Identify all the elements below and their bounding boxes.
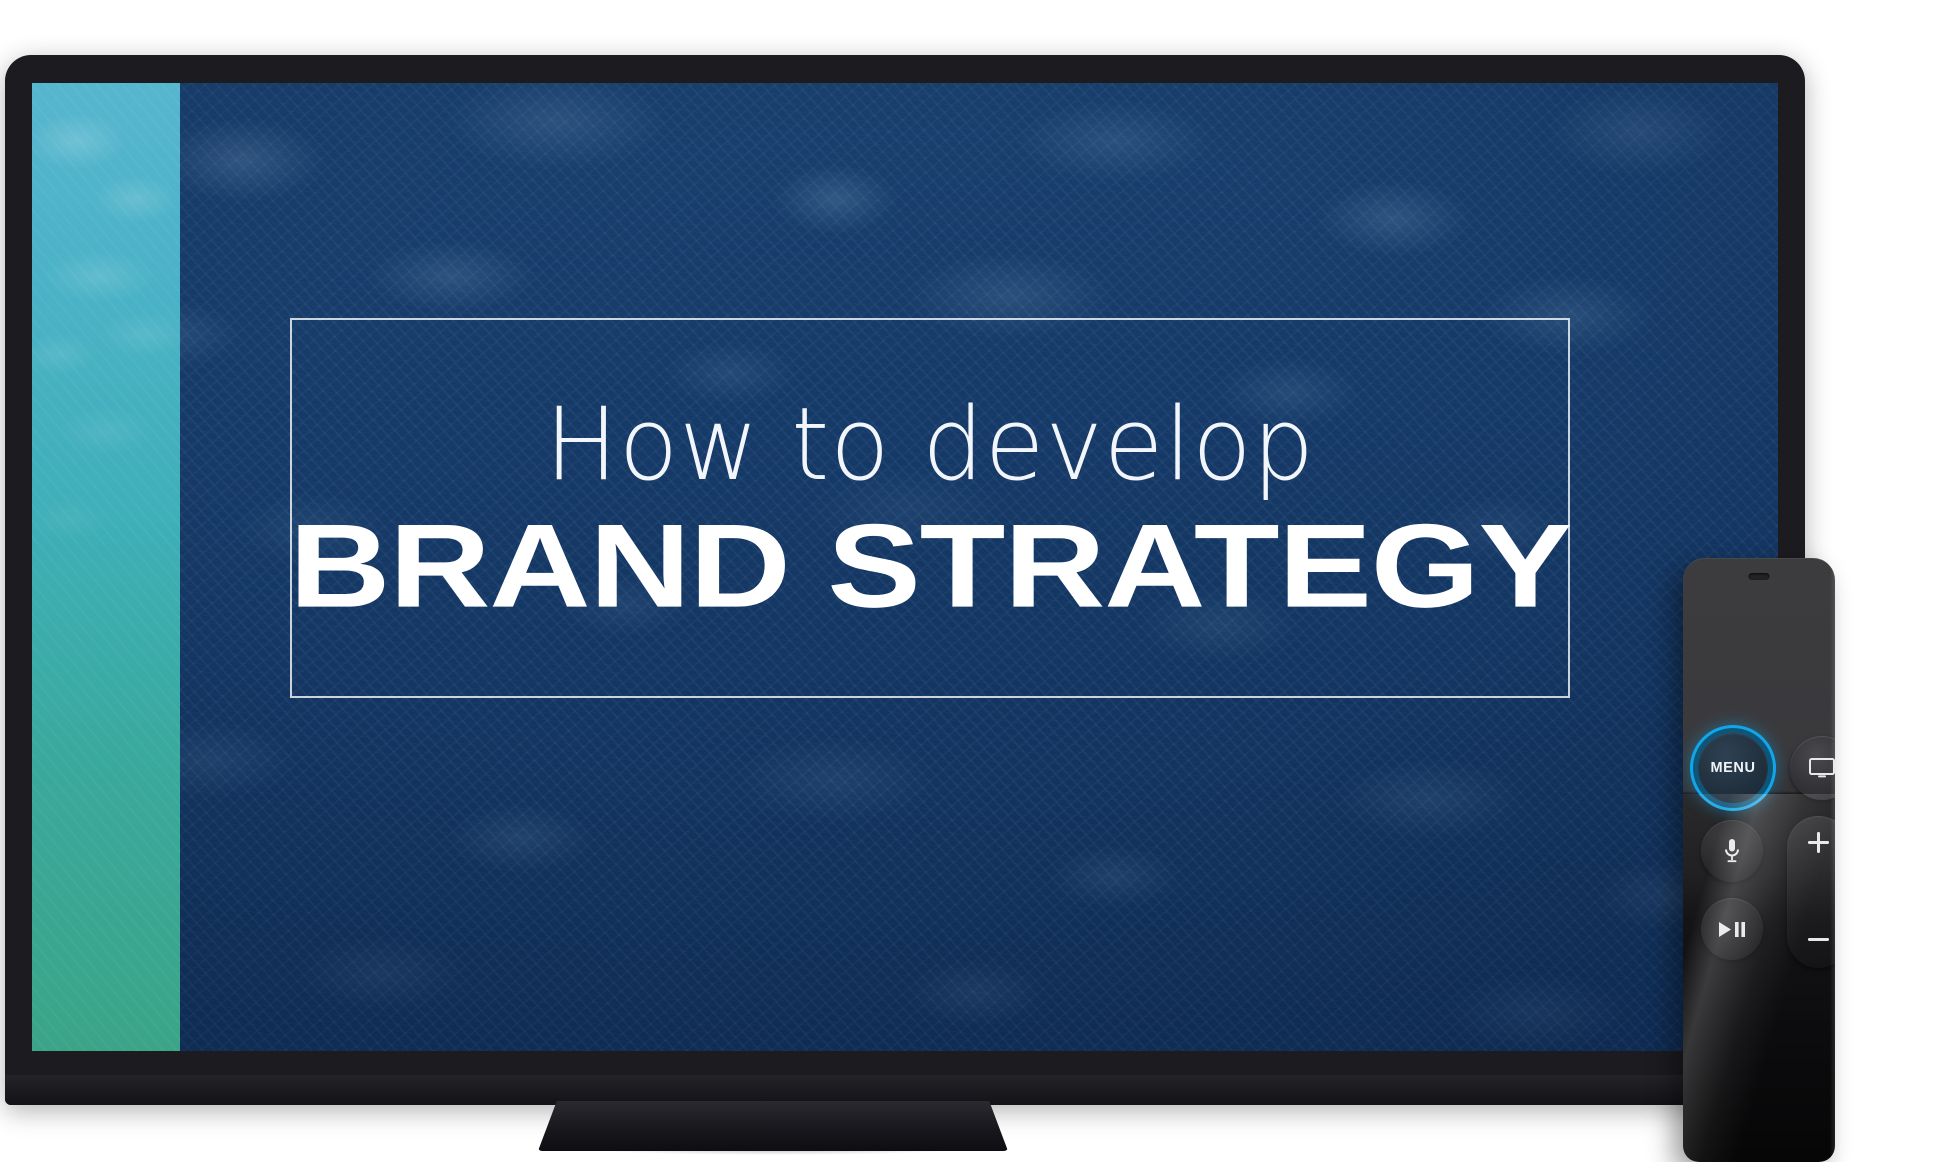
plus-icon[interactable] [1806,830,1831,855]
left-accent-gradient-bar [32,83,180,1051]
tv-screen[interactable]: How to develop BRAND STRATEGY [32,83,1778,1051]
flat-screen-tv: How to develop BRAND STRATEGY [5,55,1805,1105]
title-border-frame: How to develop BRAND STRATEGY [290,318,1570,698]
play-pause-icon [1717,921,1747,938]
remote-play-pause-button[interactable] [1701,898,1763,960]
ir-sensor-slot [1749,573,1770,580]
slide-headline-text: BRAND STRATEGY [289,505,1571,629]
remote-menu-button[interactable]: MENU [1698,733,1768,803]
remote-tv-home-button[interactable] [1790,736,1835,800]
screenshot-canvas: How to develop BRAND STRATEGY MENU [0,0,1938,1162]
remote-volume-rocker[interactable] [1787,816,1835,968]
remote-menu-label: MENU [1710,760,1755,776]
microphone-icon [1724,838,1740,864]
remote-siri-mic-button[interactable] [1701,820,1763,882]
slide-kicker-text: How to develop [545,393,1315,496]
minus-icon[interactable] [1806,927,1831,952]
tv-screen-icon [1809,758,1835,778]
apple-tv-siri-remote: MENU [1683,558,1835,1162]
tv-stand [538,1101,1008,1151]
